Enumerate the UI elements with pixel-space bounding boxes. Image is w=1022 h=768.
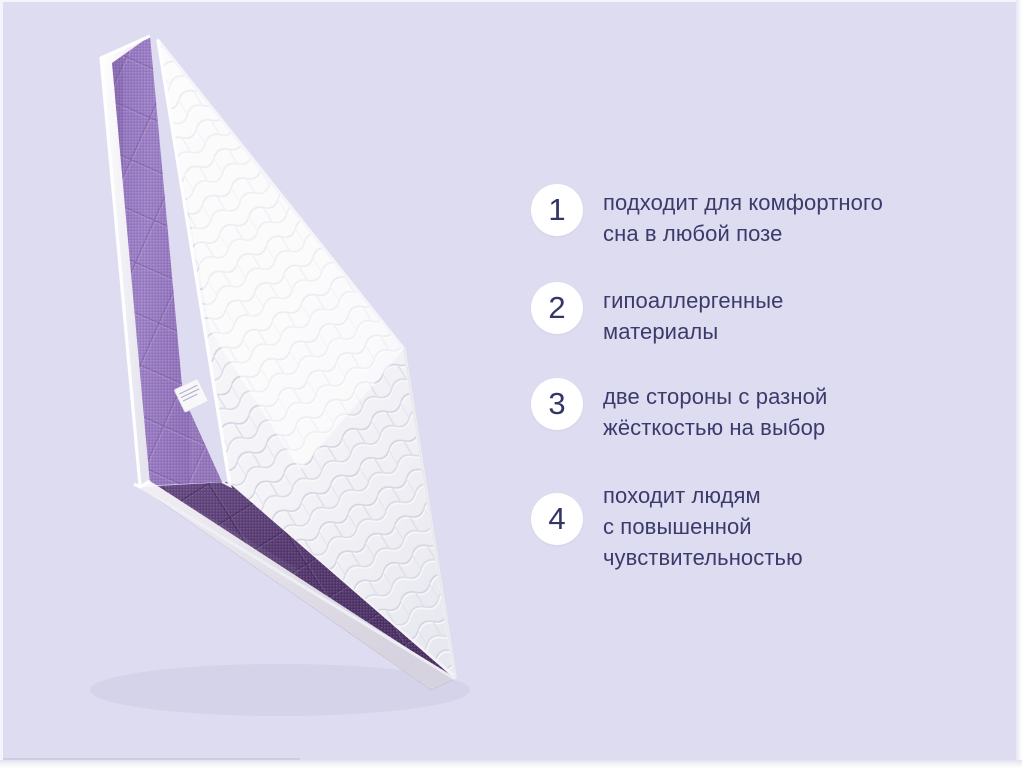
feature-item-1: 1 подходит для комфортного сна в любой п… (531, 184, 883, 249)
feature-number-badge-4: 4 (531, 493, 583, 545)
mattress-illustration (0, 0, 520, 768)
feature-number-badge-1: 1 (531, 184, 583, 236)
feature-text-1: подходит для комфортного сна в любой поз… (603, 184, 883, 249)
promo-slide: 1 подходит для комфортного сна в любой п… (0, 0, 1022, 768)
feature-number-badge-3: 3 (531, 378, 583, 430)
feature-text-4: походит людям с повышенной чувствительно… (603, 477, 803, 573)
frame-edge-right (1016, 0, 1022, 768)
feature-item-4: 4 походит людям с повышенной чувствитель… (531, 477, 803, 573)
feature-item-3: 3 две стороны с разной жёсткостью на выб… (531, 378, 827, 443)
feature-text-3: две стороны с разной жёсткостью на выбор (603, 378, 827, 443)
feature-item-2: 2 гипоаллергенные материалы (531, 282, 783, 347)
feature-number-badge-2: 2 (531, 282, 583, 334)
feature-text-2: гипоаллергенные материалы (603, 282, 783, 347)
